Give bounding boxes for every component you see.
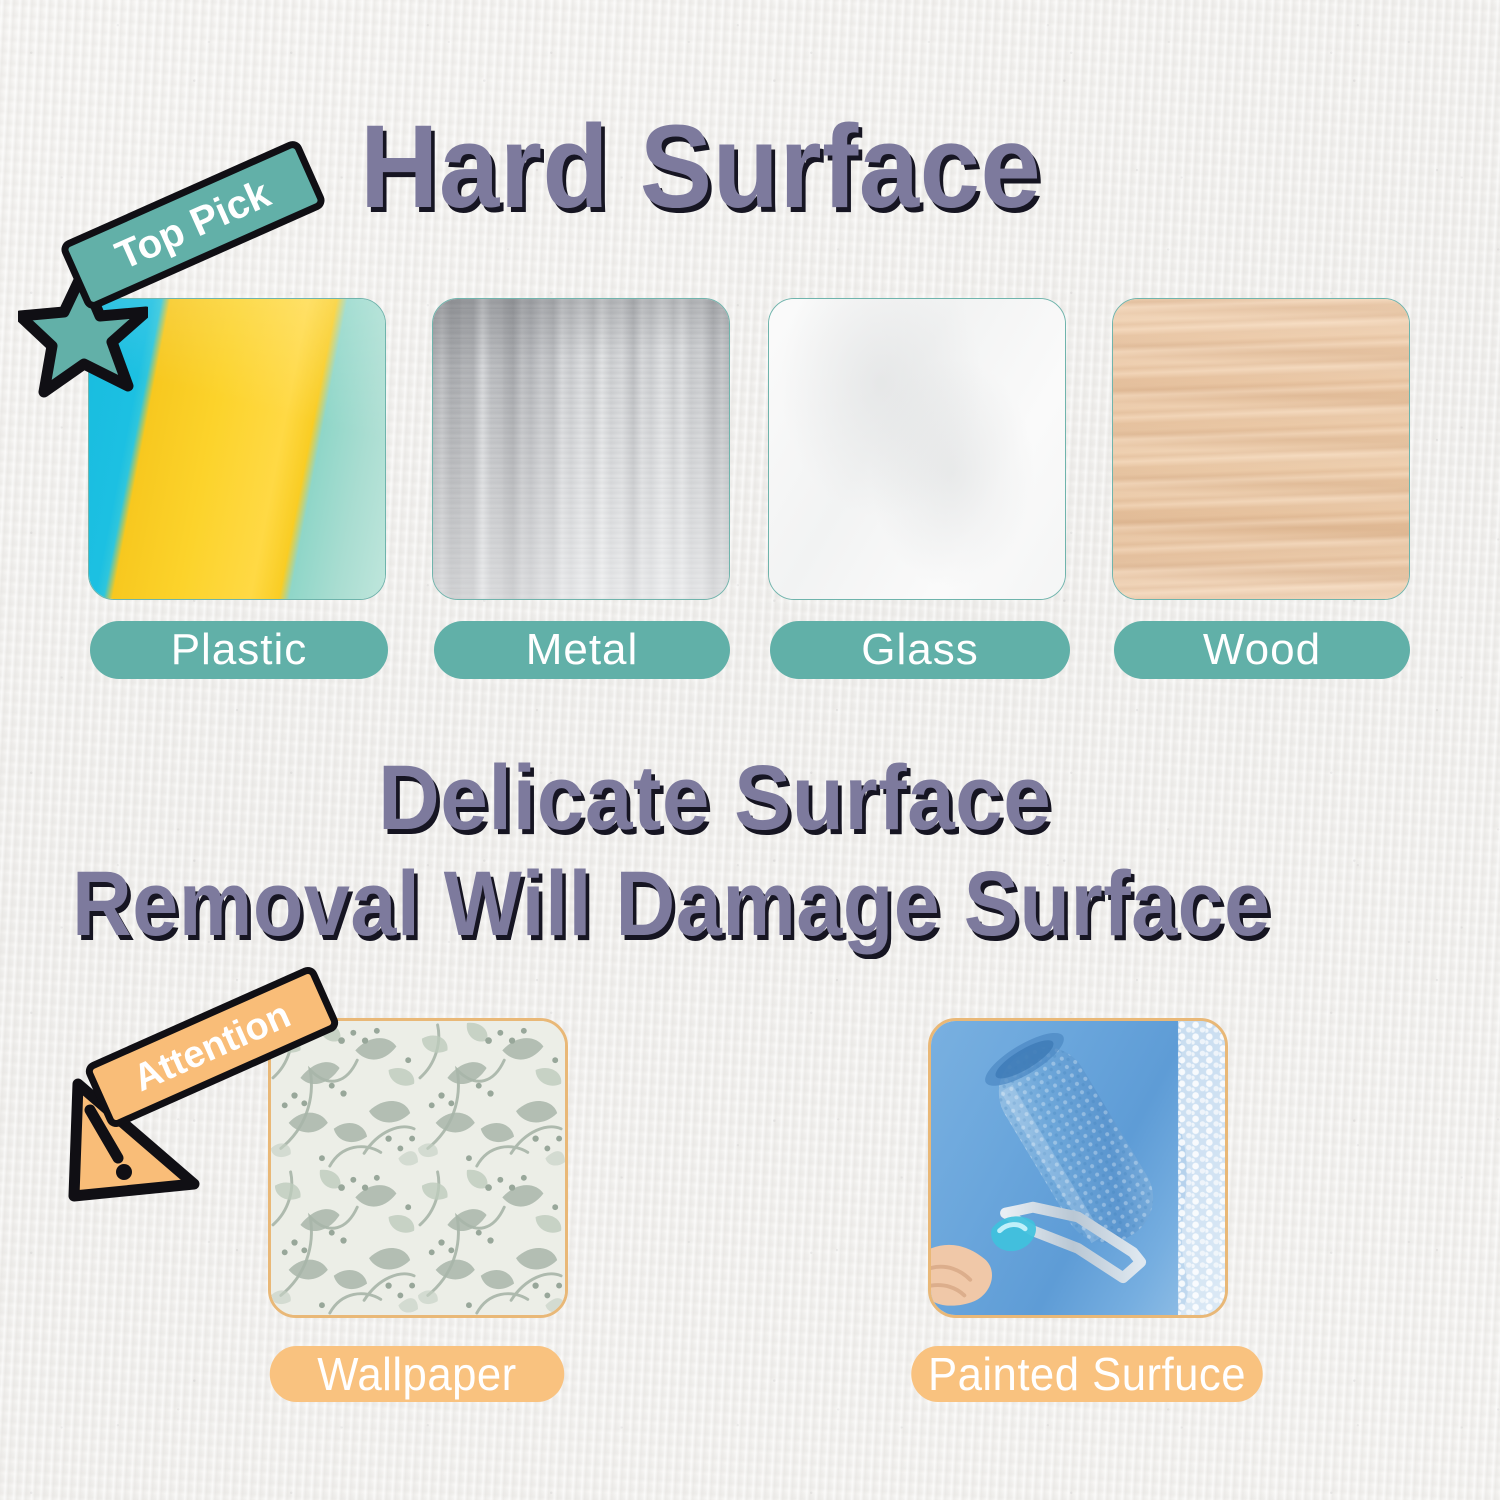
- swatch-card-wallpaper[interactable]: [268, 1018, 568, 1318]
- page-subtitle-removal-warning: Removal Will Damage Surface: [72, 858, 1271, 950]
- wood-swatch: [1113, 299, 1409, 599]
- page-title-hard-surface: Hard Surface: [360, 108, 1041, 226]
- label-pill-wood[interactable]: Wood: [1114, 621, 1410, 679]
- swatch-card-metal[interactable]: [432, 298, 730, 600]
- label-pill-metal[interactable]: Metal: [434, 621, 730, 679]
- painted-wall-photo: [931, 1021, 1225, 1315]
- wallpaper-photo: [271, 1021, 565, 1315]
- metal-gloss-overlay: [433, 299, 729, 599]
- label-pill-wallpaper[interactable]: Wallpaper: [270, 1346, 565, 1402]
- infographic-page: Hard Surface Plastic Metal Glass Wood To…: [0, 0, 1500, 1500]
- label-pill-painted-surface[interactable]: Painted Surfuce: [911, 1346, 1263, 1402]
- wallpaper-damask-pattern: [271, 1021, 565, 1315]
- label-pill-plastic[interactable]: Plastic: [90, 621, 388, 679]
- swatch-card-wood[interactable]: [1112, 298, 1410, 600]
- badge-top-pick-label: Top Pick: [109, 171, 277, 279]
- page-title-delicate-surface: Delicate Surface: [378, 752, 1051, 844]
- label-pill-glass[interactable]: Glass: [770, 621, 1070, 679]
- paint-roller-illustration: [931, 1021, 1225, 1315]
- swatch-card-painted-surface[interactable]: [928, 1018, 1228, 1318]
- badge-top-pick[interactable]: Top Pick: [58, 138, 327, 312]
- swatch-card-glass[interactable]: [768, 298, 1066, 600]
- glass-swatch: [769, 299, 1065, 599]
